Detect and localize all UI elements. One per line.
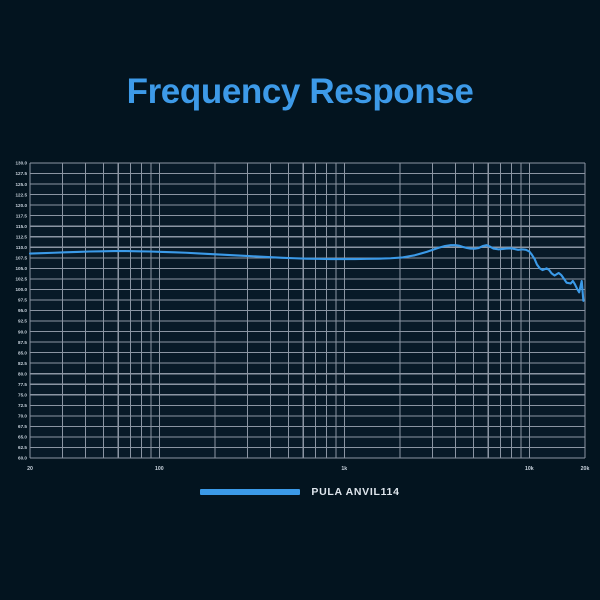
legend-color-swatch <box>200 489 300 495</box>
svg-text:117.5: 117.5 <box>16 213 28 218</box>
svg-text:110.0: 110.0 <box>16 245 28 250</box>
svg-text:100.0: 100.0 <box>16 287 28 292</box>
svg-text:60.0: 60.0 <box>18 456 27 461</box>
svg-text:82.5: 82.5 <box>18 361 27 366</box>
svg-text:90.0: 90.0 <box>18 329 27 334</box>
svg-text:75.0: 75.0 <box>18 392 27 397</box>
svg-text:112.5: 112.5 <box>16 234 28 239</box>
svg-text:130.0: 130.0 <box>16 161 28 166</box>
svg-text:70.0: 70.0 <box>18 414 27 419</box>
svg-text:62.5: 62.5 <box>18 445 27 450</box>
svg-text:115.0: 115.0 <box>16 224 28 229</box>
svg-text:122.5: 122.5 <box>16 192 28 197</box>
svg-text:97.5: 97.5 <box>18 298 27 303</box>
svg-text:72.5: 72.5 <box>18 403 27 408</box>
chart-legend: PULA ANVIL114 <box>0 486 600 498</box>
svg-text:125.0: 125.0 <box>16 182 28 187</box>
svg-text:80.0: 80.0 <box>18 371 27 376</box>
svg-text:127.5: 127.5 <box>16 171 28 176</box>
x-axis-tick-labels: 201001k10k20k <box>27 466 589 472</box>
svg-text:77.5: 77.5 <box>18 382 27 387</box>
page-title: Frequency Response <box>0 72 600 112</box>
svg-text:100: 100 <box>155 466 164 472</box>
legend-item-label: PULA ANVIL114 <box>311 486 399 498</box>
svg-text:1k: 1k <box>341 466 347 472</box>
svg-text:20k: 20k <box>581 466 590 472</box>
chart-plot-svg: 60.062.565.067.570.072.575.077.580.082.5… <box>0 155 600 475</box>
svg-text:85.0: 85.0 <box>18 350 27 355</box>
svg-text:107.5: 107.5 <box>16 256 28 261</box>
svg-text:120.0: 120.0 <box>16 203 28 208</box>
svg-text:95.0: 95.0 <box>18 308 27 313</box>
svg-text:65.0: 65.0 <box>18 435 27 440</box>
svg-text:92.5: 92.5 <box>18 319 27 324</box>
y-axis-tick-labels: 60.062.565.067.570.072.575.077.580.082.5… <box>16 161 28 461</box>
svg-text:87.5: 87.5 <box>18 340 27 345</box>
svg-text:105.0: 105.0 <box>16 266 28 271</box>
legend-item[interactable]: PULA ANVIL114 <box>200 486 399 498</box>
svg-text:67.5: 67.5 <box>18 424 27 429</box>
svg-text:10k: 10k <box>525 466 534 472</box>
svg-text:20: 20 <box>27 466 33 472</box>
svg-text:102.5: 102.5 <box>16 277 28 282</box>
frequency-response-chart: 60.062.565.067.570.072.575.077.580.082.5… <box>0 155 600 475</box>
